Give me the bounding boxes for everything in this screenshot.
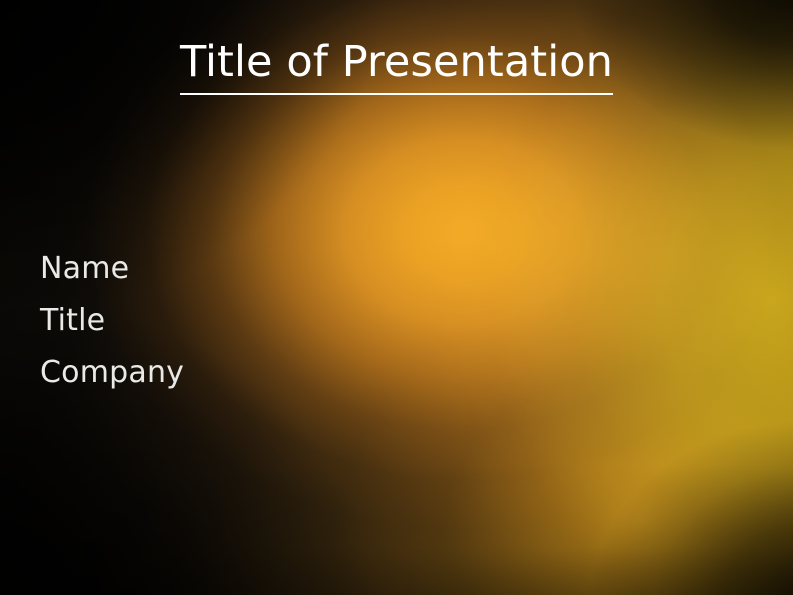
- subtitle-line-company[interactable]: Company: [40, 347, 460, 399]
- presentation-slide: Title of Presentation Name Title Company: [0, 0, 793, 595]
- subtitle-line-name[interactable]: Name: [40, 243, 460, 295]
- slide-content: Title of Presentation Name Title Company: [0, 0, 793, 595]
- subtitle-line-title[interactable]: Title: [40, 295, 460, 347]
- title-placeholder[interactable]: Title of Presentation: [0, 38, 793, 95]
- subtitle-placeholder[interactable]: Name Title Company: [40, 243, 460, 399]
- page-title[interactable]: Title of Presentation: [180, 38, 613, 95]
